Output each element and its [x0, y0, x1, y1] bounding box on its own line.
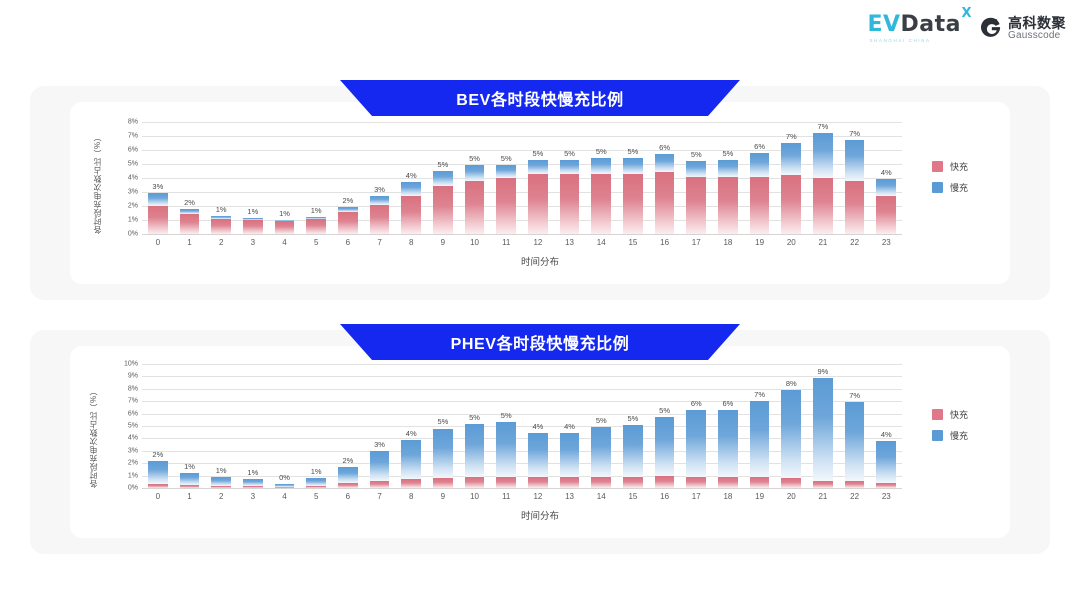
- bar-segment-slow-charge[interactable]: [306, 478, 326, 485]
- stacked-bar[interactable]: [465, 424, 485, 488]
- phev-x-axis: 01234567891011121314151617181920212223: [142, 492, 902, 501]
- bar-segment-slow-charge[interactable]: [243, 479, 263, 486]
- stacked-bar[interactable]: [211, 216, 231, 234]
- phev-y-tick: 10%: [124, 361, 138, 368]
- bar-slot[interactable]: 3%: [364, 122, 396, 234]
- phev-bar-group: 2%1%1%1%0%1%2%3%4%5%5%5%4%4%5%5%5%6%6%7%…: [142, 364, 902, 488]
- bar-segment-fast-charge[interactable]: [180, 214, 200, 234]
- bev-legend: 快充慢充: [932, 160, 968, 194]
- x-tick-label: 14: [585, 492, 617, 501]
- bar-segment-slow-charge[interactable]: [750, 153, 770, 177]
- bar-slot[interactable]: 6%: [680, 364, 712, 488]
- bar-segment-slow-charge[interactable]: [845, 402, 865, 480]
- legend-item-fast[interactable]: 快充: [932, 160, 968, 173]
- bar-segment-fast-charge[interactable]: [148, 206, 168, 234]
- bar-segment-fast-charge[interactable]: [465, 181, 485, 234]
- bev-y-tick: 5%: [128, 161, 138, 168]
- x-tick-label: 7: [364, 238, 396, 247]
- stacked-bar[interactable]: [876, 179, 896, 234]
- bar-segment-fast-charge[interactable]: [623, 174, 643, 234]
- x-tick-label: 3: [237, 492, 269, 501]
- bar-segment-fast-charge[interactable]: [560, 174, 580, 234]
- phev-plot-area: 0%1%2%3%4%5%6%7%8%9%10%2%1%1%1%0%1%2%3%4…: [142, 364, 902, 488]
- bar-slot[interactable]: 5%: [427, 122, 459, 234]
- bar-value-label: 7%: [818, 122, 829, 131]
- bar-segment-slow-charge[interactable]: [876, 179, 896, 196]
- stacked-bar[interactable]: [845, 140, 865, 234]
- bar-segment-fast-charge[interactable]: [813, 178, 833, 234]
- x-tick-label: 5: [300, 492, 332, 501]
- bev-x-axis-line: [142, 234, 902, 235]
- bar-slot[interactable]: 5%: [459, 122, 491, 234]
- bar-segment-slow-charge[interactable]: [845, 140, 865, 181]
- bar-segment-slow-charge[interactable]: [560, 433, 580, 476]
- bar-value-label: 5%: [627, 414, 638, 423]
- bar-slot[interactable]: 7%: [807, 122, 839, 234]
- stacked-bar[interactable]: [433, 429, 453, 489]
- bar-segment-slow-charge[interactable]: [718, 160, 738, 177]
- bar-segment-slow-charge[interactable]: [433, 429, 453, 479]
- stacked-bar[interactable]: [560, 160, 580, 234]
- stacked-bar[interactable]: [528, 433, 548, 488]
- stacked-bar[interactable]: [845, 402, 865, 488]
- stacked-bar[interactable]: [718, 160, 738, 234]
- phev-x-axis-line: [142, 488, 902, 489]
- bar-value-label: 7%: [849, 391, 860, 400]
- phev-panel: 各时段充电次数占比（%）0%1%2%3%4%5%6%7%8%9%10%2%1%1…: [30, 330, 1050, 554]
- stacked-bar[interactable]: [876, 441, 896, 488]
- bar-slot[interactable]: 1%: [269, 122, 301, 234]
- x-tick-label: 2: [205, 238, 237, 247]
- bar-segment-slow-charge[interactable]: [465, 165, 485, 180]
- bar-slot[interactable]: 5%: [490, 122, 522, 234]
- bar-segment-fast-charge[interactable]: [433, 478, 453, 488]
- bar-segment-slow-charge[interactable]: [401, 440, 421, 480]
- bar-slot[interactable]: 5%: [427, 364, 459, 488]
- stacked-bar[interactable]: [623, 158, 643, 234]
- legend-label: 快充: [950, 160, 968, 173]
- bar-value-label: 3%: [152, 182, 163, 191]
- x-tick-label: 9: [427, 238, 459, 247]
- x-tick-label: 23: [870, 238, 902, 247]
- bar-slot[interactable]: 7%: [839, 122, 871, 234]
- bar-segment-fast-charge[interactable]: [465, 477, 485, 488]
- x-tick-label: 12: [522, 238, 554, 247]
- bar-segment-slow-charge[interactable]: [560, 160, 580, 174]
- bar-segment-fast-charge[interactable]: [686, 477, 706, 488]
- stacked-bar[interactable]: [560, 433, 580, 488]
- bev-y-tick: 0%: [128, 231, 138, 238]
- x-tick-label: 3: [237, 238, 269, 247]
- bar-slot[interactable]: 6%: [649, 122, 681, 234]
- stacked-bar[interactable]: [243, 479, 263, 488]
- bar-value-label: 5%: [501, 154, 512, 163]
- bar-segment-slow-charge[interactable]: [211, 477, 231, 486]
- bar-value-label: 5%: [437, 417, 448, 426]
- bar-segment-slow-charge[interactable]: [496, 165, 516, 178]
- bar-value-label: 2%: [184, 198, 195, 207]
- bar-value-label: 5%: [501, 411, 512, 420]
- evdata-data-text: Data: [901, 12, 961, 37]
- bar-value-label: 1%: [216, 466, 227, 475]
- bar-segment-fast-charge[interactable]: [275, 221, 295, 234]
- bar-slot[interactable]: 5%: [617, 364, 649, 488]
- legend-label: 慢充: [950, 429, 968, 442]
- x-tick-label: 0: [142, 492, 174, 501]
- bar-slot[interactable]: 0%: [269, 364, 301, 488]
- bar-segment-slow-charge[interactable]: [655, 154, 675, 172]
- bar-segment-slow-charge[interactable]: [781, 143, 801, 175]
- bar-slot[interactable]: 2%: [332, 364, 364, 488]
- bar-slot[interactable]: 4%: [554, 364, 586, 488]
- bar-segment-fast-charge[interactable]: [718, 477, 738, 488]
- evdata-subtitle: SHANGHAI CHINA: [869, 39, 930, 44]
- x-tick-label: 15: [617, 238, 649, 247]
- stacked-bar[interactable]: [275, 220, 295, 234]
- bar-slot[interactable]: 5%: [459, 364, 491, 488]
- bar-segment-fast-charge[interactable]: [781, 175, 801, 234]
- bar-value-label: 5%: [437, 160, 448, 169]
- bev-card: 各时段充电次数占比（%）0%1%2%3%4%5%6%7%8%3%2%1%1%1%…: [70, 102, 1010, 284]
- x-tick-label: 0: [142, 238, 174, 247]
- bar-slot[interactable]: 3%: [142, 122, 174, 234]
- bar-slot[interactable]: 6%: [744, 122, 776, 234]
- bar-slot[interactable]: 5%: [649, 364, 681, 488]
- stacked-bar[interactable]: [718, 410, 738, 488]
- phev-y-tick: 6%: [128, 410, 138, 417]
- x-tick-label: 16: [649, 492, 681, 501]
- x-tick-label: 1: [174, 492, 206, 501]
- stacked-bar[interactable]: [243, 218, 263, 234]
- bar-segment-slow-charge[interactable]: [781, 390, 801, 478]
- bar-segment-fast-charge[interactable]: [306, 219, 326, 234]
- stacked-bar[interactable]: [591, 427, 611, 488]
- evdata-wordmark: EVDataX: [867, 14, 961, 36]
- bar-segment-slow-charge[interactable]: [433, 171, 453, 186]
- legend-swatch-icon: [932, 409, 943, 420]
- x-tick-label: 13: [554, 492, 586, 501]
- bar-slot[interactable]: 1%: [205, 364, 237, 488]
- bar-segment-fast-charge[interactable]: [338, 212, 358, 234]
- bar-segment-slow-charge[interactable]: [148, 193, 168, 206]
- stacked-bar[interactable]: [306, 217, 326, 234]
- bar-segment-fast-charge[interactable]: [655, 476, 675, 488]
- bar-segment-slow-charge[interactable]: [686, 161, 706, 176]
- bar-segment-fast-charge[interactable]: [813, 481, 833, 488]
- phev-chart: 各时段充电次数占比（%）0%1%2%3%4%5%6%7%8%9%10%2%1%1…: [70, 346, 1010, 538]
- bar-slot[interactable]: 5%: [490, 364, 522, 488]
- bar-segment-slow-charge[interactable]: [528, 433, 548, 476]
- stacked-bar[interactable]: [623, 425, 643, 488]
- bev-y-tick: 8%: [128, 119, 138, 126]
- bar-value-label: 5%: [596, 416, 607, 425]
- bar-slot[interactable]: 1%: [205, 122, 237, 234]
- bev-x-axis-title: 时间分布: [70, 254, 1010, 268]
- legend-item-slow[interactable]: 慢充: [932, 429, 968, 442]
- bar-slot[interactable]: 5%: [680, 122, 712, 234]
- bar-segment-fast-charge[interactable]: [370, 481, 390, 488]
- bar-value-label: 6%: [659, 143, 670, 152]
- stacked-bar[interactable]: [148, 461, 168, 488]
- bar-slot[interactable]: 5%: [522, 122, 554, 234]
- x-tick-label: 7: [364, 492, 396, 501]
- bar-segment-slow-charge[interactable]: [718, 410, 738, 477]
- stacked-bar[interactable]: [813, 378, 833, 488]
- bar-slot[interactable]: 4%: [870, 122, 902, 234]
- bar-segment-slow-charge[interactable]: [370, 196, 390, 204]
- bar-value-label: 2%: [152, 450, 163, 459]
- bar-value-label: 5%: [659, 406, 670, 415]
- bar-segment-fast-charge[interactable]: [781, 478, 801, 488]
- stacked-bar[interactable]: [370, 451, 390, 488]
- stacked-bar[interactable]: [750, 401, 770, 488]
- stacked-bar[interactable]: [813, 133, 833, 234]
- stacked-bar[interactable]: [750, 153, 770, 234]
- bar-slot[interactable]: 4%: [870, 364, 902, 488]
- legend-swatch-icon: [932, 182, 943, 193]
- bar-segment-slow-charge[interactable]: [496, 422, 516, 477]
- bar-slot[interactable]: 5%: [585, 122, 617, 234]
- x-tick-label: 17: [680, 492, 712, 501]
- bar-segment-fast-charge[interactable]: [433, 186, 453, 234]
- x-tick-label: 16: [649, 238, 681, 247]
- bar-segment-fast-charge[interactable]: [623, 477, 643, 488]
- phev-y-tick: 9%: [128, 373, 138, 380]
- bar-segment-slow-charge[interactable]: [686, 410, 706, 477]
- bar-segment-slow-charge[interactable]: [591, 427, 611, 477]
- bar-slot[interactable]: 6%: [712, 364, 744, 488]
- evdata-ev-text: EV: [867, 12, 900, 37]
- stacked-bar[interactable]: [528, 160, 548, 234]
- gausscode-logo: 高科数聚 Gausscode: [979, 16, 1066, 42]
- stacked-bar[interactable]: [686, 161, 706, 234]
- bar-slot[interactable]: 7%: [839, 364, 871, 488]
- bar-segment-fast-charge[interactable]: [243, 220, 263, 234]
- bar-segment-fast-charge[interactable]: [370, 205, 390, 234]
- phev-y-tick: 3%: [128, 447, 138, 454]
- bar-segment-slow-charge[interactable]: [591, 158, 611, 173]
- stacked-bar[interactable]: [781, 143, 801, 234]
- header: EVDataX SHANGHAI CHINA 高科数聚 Gausscode: [0, 0, 1080, 60]
- stacked-bar[interactable]: [686, 410, 706, 488]
- x-tick-label: 22: [839, 492, 871, 501]
- bar-segment-slow-charge[interactable]: [623, 425, 643, 477]
- bar-segment-fast-charge[interactable]: [686, 177, 706, 234]
- bar-slot[interactable]: 8%: [775, 364, 807, 488]
- bar-value-label: 9%: [818, 367, 829, 376]
- stacked-bar[interactable]: [781, 390, 801, 488]
- bar-segment-slow-charge[interactable]: [813, 133, 833, 178]
- bar-value-label: 5%: [469, 413, 480, 422]
- bev-chart: 各时段充电次数占比（%）0%1%2%3%4%5%6%7%8%3%2%1%1%1%…: [70, 102, 1010, 284]
- bar-value-label: 1%: [247, 207, 258, 216]
- bar-slot[interactable]: 9%: [807, 364, 839, 488]
- bar-segment-fast-charge[interactable]: [401, 479, 421, 488]
- phev-x-axis-title: 时间分布: [70, 508, 1010, 522]
- x-tick-label: 14: [585, 238, 617, 247]
- bar-segment-fast-charge[interactable]: [591, 174, 611, 234]
- bar-value-label: 5%: [691, 150, 702, 159]
- phev-y-axis-label: 各时段充电次数占比（%）: [88, 364, 99, 488]
- bar-value-label: 7%: [754, 390, 765, 399]
- x-tick-label: 5: [300, 238, 332, 247]
- stacked-bar[interactable]: [591, 158, 611, 234]
- bar-slot[interactable]: 5%: [554, 122, 586, 234]
- stacked-bar[interactable]: [338, 467, 358, 488]
- bar-segment-slow-charge[interactable]: [876, 441, 896, 483]
- stacked-bar[interactable]: [211, 477, 231, 488]
- bar-value-label: 7%: [849, 129, 860, 138]
- bev-y-axis-label: 各时段充电次数占比（%）: [92, 122, 103, 234]
- bar-value-label: 5%: [723, 149, 734, 158]
- stacked-bar[interactable]: [496, 165, 516, 234]
- stacked-bar[interactable]: [180, 473, 200, 488]
- bar-slot[interactable]: 1%: [237, 122, 269, 234]
- stacked-bar[interactable]: [465, 165, 485, 234]
- x-tick-label: 6: [332, 238, 364, 247]
- x-tick-label: 12: [522, 492, 554, 501]
- bar-value-label: 3%: [374, 185, 385, 194]
- bar-slot[interactable]: 4%: [395, 364, 427, 488]
- bar-value-label: 1%: [184, 462, 195, 471]
- bar-slot[interactable]: 5%: [585, 364, 617, 488]
- bev-y-tick: 3%: [128, 189, 138, 196]
- x-tick-label: 18: [712, 492, 744, 501]
- bar-segment-fast-charge[interactable]: [528, 477, 548, 488]
- x-tick-label: 21: [807, 492, 839, 501]
- bar-slot[interactable]: 5%: [712, 122, 744, 234]
- stacked-bar[interactable]: [496, 422, 516, 488]
- bar-segment-slow-charge[interactable]: [370, 451, 390, 481]
- bar-value-label: 4%: [564, 422, 575, 431]
- bar-segment-fast-charge[interactable]: [496, 477, 516, 488]
- phev-y-tick: 1%: [128, 472, 138, 479]
- bar-segment-slow-charge[interactable]: [401, 182, 421, 196]
- stacked-bar[interactable]: [306, 478, 326, 488]
- bar-segment-slow-charge[interactable]: [750, 401, 770, 478]
- legend-label: 快充: [950, 408, 968, 421]
- bar-slot[interactable]: 2%: [332, 122, 364, 234]
- bar-segment-slow-charge[interactable]: [813, 378, 833, 481]
- bar-slot[interactable]: 1%: [300, 364, 332, 488]
- legend-item-slow[interactable]: 慢充: [932, 181, 968, 194]
- x-tick-label: 8: [395, 238, 427, 247]
- bar-segment-fast-charge[interactable]: [401, 196, 421, 234]
- bev-y-tick: 1%: [128, 217, 138, 224]
- bar-value-label: 5%: [532, 149, 543, 158]
- bar-value-label: 1%: [311, 206, 322, 215]
- bar-segment-slow-charge[interactable]: [623, 158, 643, 173]
- bev-bar-group: 3%2%1%1%1%1%2%3%4%5%5%5%5%5%5%5%6%5%5%6%…: [142, 122, 902, 234]
- bev-plot-area: 0%1%2%3%4%5%6%7%8%3%2%1%1%1%1%2%3%4%5%5%…: [142, 122, 902, 234]
- bar-value-label: 6%: [723, 399, 734, 408]
- bar-slot[interactable]: 4%: [395, 122, 427, 234]
- bar-segment-fast-charge[interactable]: [845, 481, 865, 488]
- bar-segment-slow-charge[interactable]: [148, 461, 168, 484]
- bar-slot[interactable]: 1%: [300, 122, 332, 234]
- bar-segment-fast-charge[interactable]: [560, 477, 580, 488]
- bar-slot[interactable]: 7%: [775, 122, 807, 234]
- phev-y-tick: 5%: [128, 423, 138, 430]
- stacked-bar[interactable]: [401, 182, 421, 234]
- stacked-bar[interactable]: [370, 196, 390, 234]
- bar-slot[interactable]: 7%: [744, 364, 776, 488]
- legend-swatch-icon: [932, 430, 943, 441]
- bar-slot[interactable]: 5%: [617, 122, 649, 234]
- bar-value-label: 6%: [691, 399, 702, 408]
- bar-slot[interactable]: 2%: [174, 122, 206, 234]
- bar-segment-fast-charge[interactable]: [655, 172, 675, 234]
- bar-slot[interactable]: 2%: [142, 364, 174, 488]
- bar-segment-fast-charge[interactable]: [496, 178, 516, 234]
- x-tick-label: 15: [617, 492, 649, 501]
- bar-slot[interactable]: 3%: [364, 364, 396, 488]
- bev-y-tick: 7%: [128, 133, 138, 140]
- bar-segment-slow-charge[interactable]: [655, 417, 675, 477]
- slide-page: EVDataX SHANGHAI CHINA 高科数聚 Gausscode: [0, 0, 1080, 608]
- stacked-bar[interactable]: [655, 154, 675, 234]
- phev-y-tick: 4%: [128, 435, 138, 442]
- x-tick-label: 11: [490, 238, 522, 247]
- bar-slot[interactable]: 1%: [174, 364, 206, 488]
- x-tick-label: 20: [775, 238, 807, 247]
- x-tick-label: 13: [554, 238, 586, 247]
- bar-slot[interactable]: 1%: [237, 364, 269, 488]
- bar-value-label: 0%: [279, 473, 290, 482]
- bar-segment-slow-charge[interactable]: [528, 160, 548, 174]
- bar-segment-fast-charge[interactable]: [876, 196, 896, 234]
- legend-item-fast[interactable]: 快充: [932, 408, 968, 421]
- bar-segment-fast-charge[interactable]: [750, 177, 770, 234]
- bar-value-label: 8%: [786, 379, 797, 388]
- phev-y-tick: 7%: [128, 398, 138, 405]
- stacked-bar[interactable]: [338, 207, 358, 234]
- bar-segment-fast-charge[interactable]: [591, 477, 611, 488]
- phev-y-tick: 2%: [128, 460, 138, 467]
- bar-value-label: 7%: [786, 132, 797, 141]
- bar-segment-slow-charge[interactable]: [465, 424, 485, 477]
- gausscode-text: 高科数聚 Gausscode: [1008, 16, 1066, 42]
- bar-segment-slow-charge[interactable]: [180, 473, 200, 485]
- x-tick-label: 1: [174, 238, 206, 247]
- x-tick-label: 6: [332, 492, 364, 501]
- x-tick-label: 2: [205, 492, 237, 501]
- bev-panel: 各时段充电次数占比（%）0%1%2%3%4%5%6%7%8%3%2%1%1%1%…: [30, 86, 1050, 300]
- stacked-bar[interactable]: [433, 171, 453, 234]
- bev-title-banner: BEV各时段快慢充比例: [340, 80, 740, 116]
- x-tick-label: 17: [680, 238, 712, 247]
- stacked-bar[interactable]: [148, 193, 168, 234]
- bar-segment-fast-charge[interactable]: [211, 219, 231, 234]
- stacked-bar[interactable]: [401, 440, 421, 488]
- bar-value-label: 4%: [881, 168, 892, 177]
- stacked-bar[interactable]: [180, 209, 200, 234]
- x-tick-label: 4: [269, 492, 301, 501]
- stacked-bar[interactable]: [655, 417, 675, 488]
- bar-segment-fast-charge[interactable]: [845, 181, 865, 234]
- x-tick-label: 23: [870, 492, 902, 501]
- phev-y-tick: 8%: [128, 385, 138, 392]
- x-tick-label: 19: [744, 238, 776, 247]
- bar-segment-fast-charge[interactable]: [718, 177, 738, 234]
- bar-segment-slow-charge[interactable]: [338, 467, 358, 483]
- bar-segment-fast-charge[interactable]: [750, 477, 770, 488]
- bar-slot[interactable]: 4%: [522, 364, 554, 488]
- x-tick-label: 10: [459, 492, 491, 501]
- bev-x-axis: 01234567891011121314151617181920212223: [142, 238, 902, 247]
- x-tick-label: 11: [490, 492, 522, 501]
- bar-segment-fast-charge[interactable]: [528, 174, 548, 234]
